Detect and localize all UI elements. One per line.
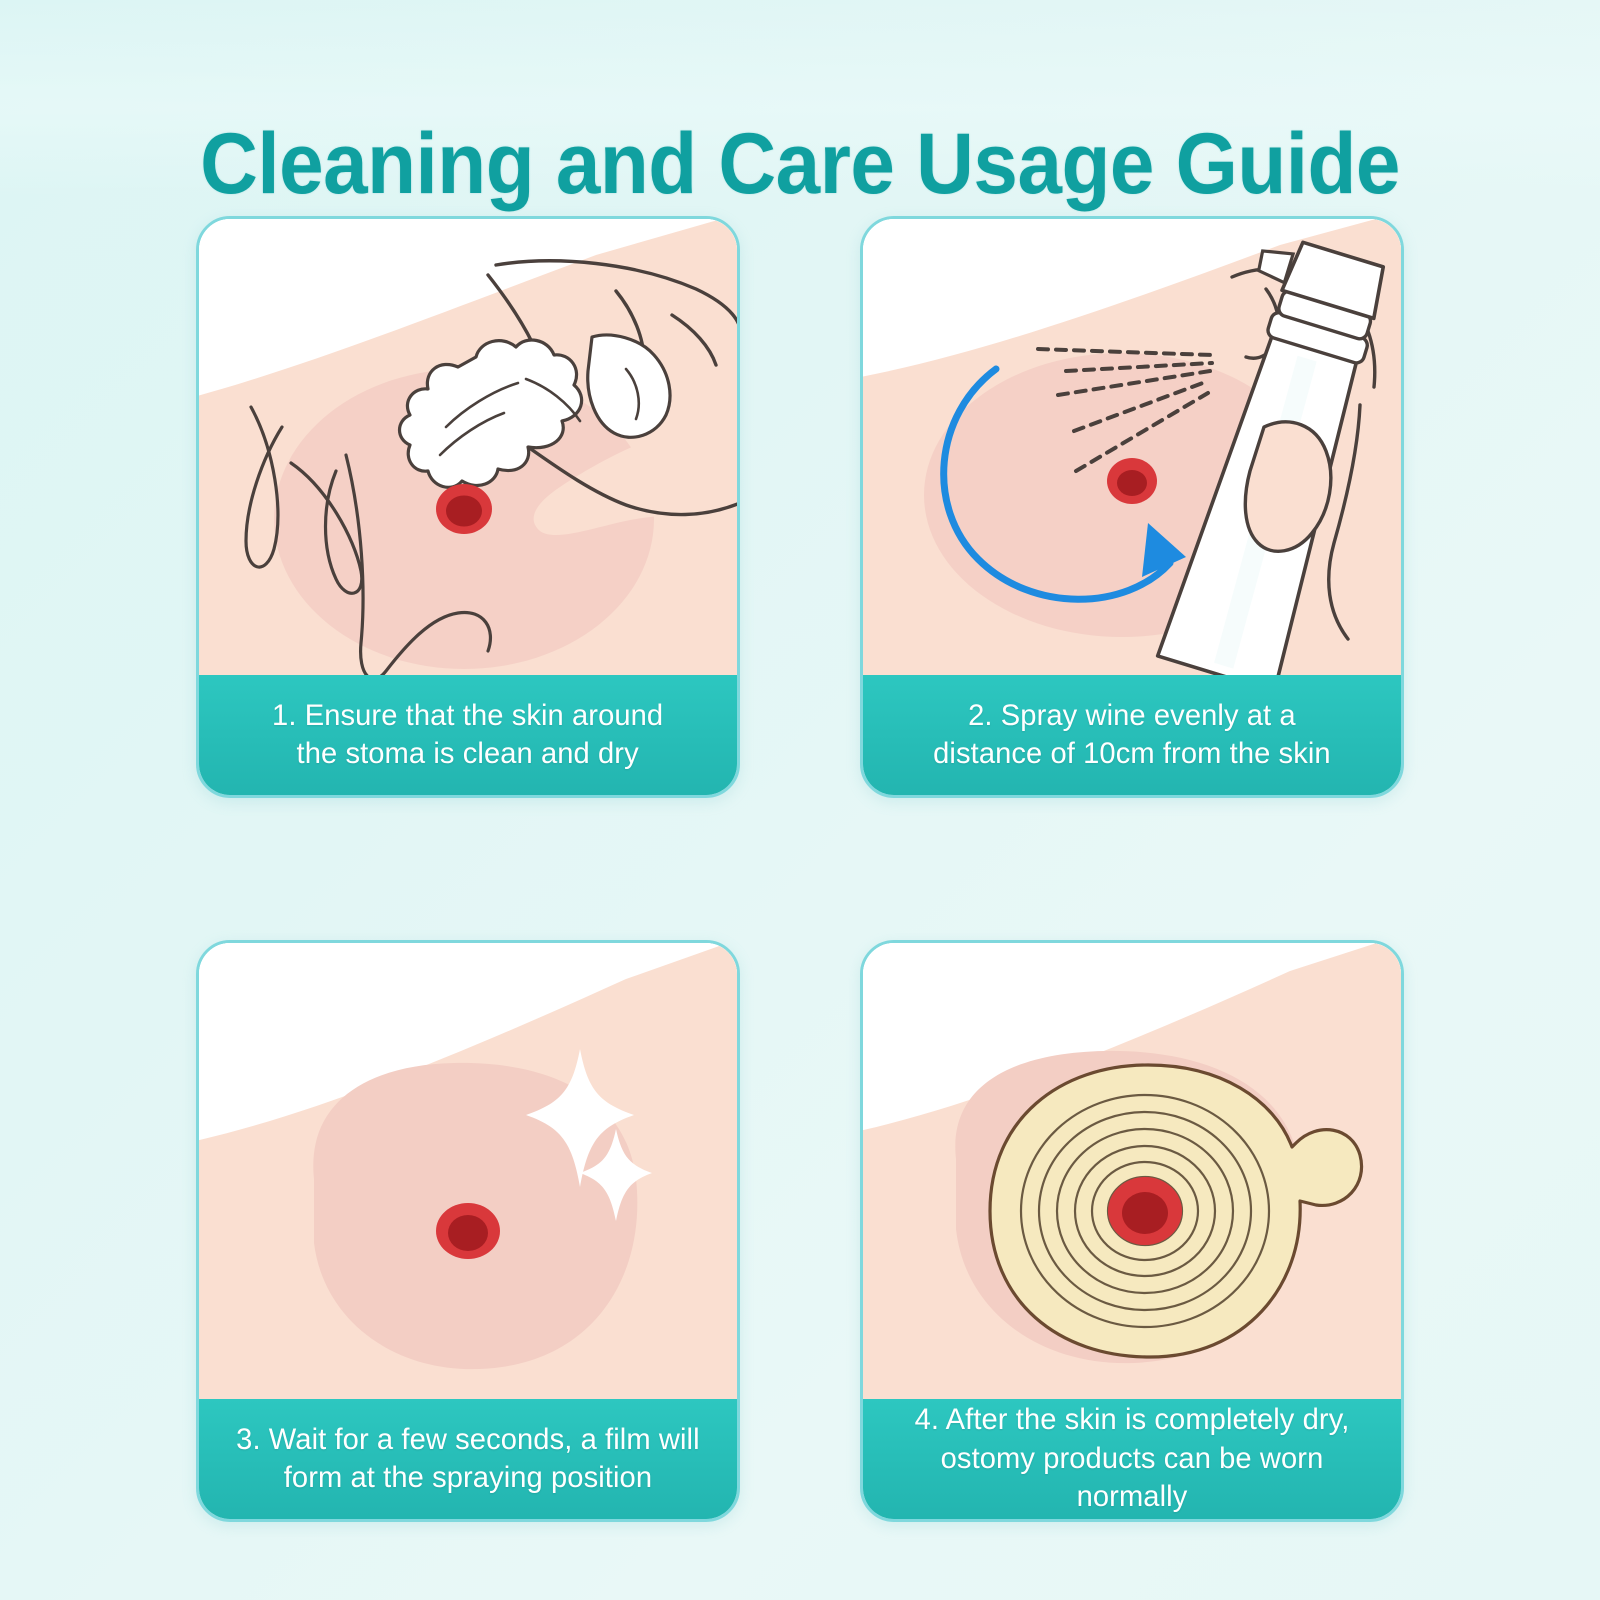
stoma-inner	[446, 496, 482, 527]
step-1-caption-line2: the stoma is clean and dry	[272, 735, 663, 773]
hand-wiping-stoma-icon	[199, 219, 737, 681]
step-card-3[interactable]: 3. Wait for a few seconds, a film will f…	[196, 940, 740, 1522]
step-1-caption: 1. Ensure that the skin around the stoma…	[199, 675, 737, 795]
page-title: Cleaning and Care Usage Guide	[56, 118, 1544, 211]
step-3-caption-line1: 3. Wait for a few seconds, a film will	[236, 1421, 700, 1459]
step-3-caption-line2: form at the spraying position	[236, 1459, 700, 1497]
stoma-inner	[1122, 1192, 1168, 1234]
step-1-illustration	[199, 219, 737, 681]
step-card-4[interactable]: 4. After the skin is completely dry, ost…	[860, 940, 1404, 1522]
step-2-caption: 2. Spray wine evenly at a distance of 10…	[863, 675, 1401, 795]
step-4-caption: 4. After the skin is completely dry, ost…	[863, 1399, 1401, 1519]
step-2-caption-line2: distance of 10cm from the skin	[933, 735, 1331, 773]
steps-grid: 1. Ensure that the skin around the stoma…	[196, 216, 1404, 1522]
step-card-2[interactable]: 2. Spray wine evenly at a distance of 10…	[860, 216, 1404, 798]
step-card-1[interactable]: 1. Ensure that the skin around the stoma…	[196, 216, 740, 798]
step-3-caption: 3. Wait for a few seconds, a film will f…	[199, 1399, 737, 1519]
step-4-caption-line2: ostomy products can be worn normally	[885, 1440, 1380, 1517]
ostomy-baseplate-icon	[863, 943, 1401, 1405]
step-1-caption-line1: 1. Ensure that the skin around	[272, 697, 663, 735]
step-4-illustration	[863, 943, 1401, 1405]
spray-bottle-icon	[863, 219, 1401, 681]
step-4-caption-line1: 4. After the skin is completely dry,	[885, 1401, 1380, 1439]
stoma-inner	[1117, 470, 1147, 496]
stoma-inner	[448, 1215, 488, 1251]
step-2-caption-line1: 2. Spray wine evenly at a	[933, 697, 1331, 735]
step-3-illustration	[199, 943, 737, 1405]
step-2-illustration	[863, 219, 1401, 681]
protective-film-icon	[199, 943, 737, 1405]
